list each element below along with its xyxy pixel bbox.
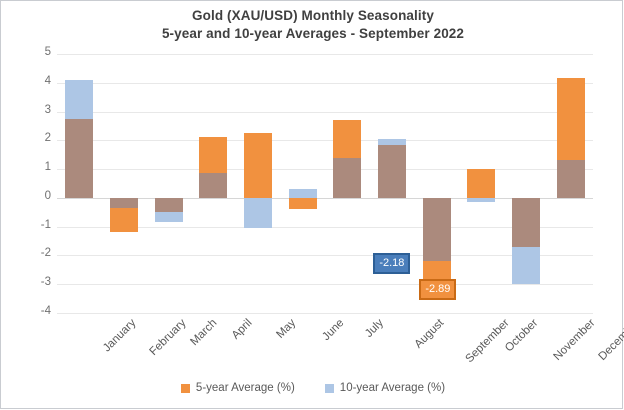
chart-title-line1: Gold (XAU/USD) Monthly Seasonality [1,7,624,25]
bar-group [280,54,325,313]
bar-segment-10-year [467,198,495,202]
bar-segment-overlap [512,198,540,247]
y-axis-tick-label: 3 [11,104,51,116]
y-axis-tick-label: -2 [11,247,51,259]
bar-segment-5-year [110,208,138,232]
y-axis-tick-label: 2 [11,132,51,144]
bar-group [236,54,281,313]
plot-area: -2.18-2.89 [57,54,593,313]
bar-segment-overlap [557,160,585,197]
bar-group [57,54,102,313]
x-axis-label-august: August [412,317,446,351]
bar-group [370,54,415,313]
bar-segment-overlap [65,119,93,198]
chart-title: Gold (XAU/USD) Monthly Seasonality 5-yea… [1,7,624,43]
bar-segment-overlap [199,173,227,197]
bar-group [191,54,236,313]
chart-legend: 5-year Average (%)10-year Average (%) [1,382,624,394]
bar-segment-overlap [155,198,183,212]
y-axis-tick-label: 0 [11,190,51,202]
bar-segment-overlap [378,145,406,198]
bar-segment-5-year [423,261,451,281]
bar-group [325,54,370,313]
y-axis-tick-label: -1 [11,219,51,231]
bar-segment-10-year [289,189,317,198]
bar-segment-5-year [244,133,272,198]
bar-group [146,54,191,313]
y-axis-tick-label: -3 [11,276,51,288]
legend-item[interactable]: 10-year Average (%) [325,382,445,394]
x-axis-label-january: January [101,317,138,354]
bar-segment-10-year [378,139,406,145]
x-axis-category-labels: JanuaryFebruaryMarchAprilMayJuneJulyAugu… [57,313,593,383]
x-axis-label-february: February [147,317,188,358]
bar-group [414,54,459,313]
legend-item[interactable]: 5-year Average (%) [181,382,295,394]
bar-segment-5-year [333,120,361,157]
bar-segment-10-year [155,212,183,222]
y-axis-tick-label: -4 [11,305,51,317]
legend-swatch-ten [325,384,334,393]
data-label: -2.18 [373,253,410,274]
x-axis-label-december: December [596,317,624,363]
bar-segment-10-year [244,198,272,228]
x-axis-label-april: April [230,317,255,342]
data-label: -2.89 [419,279,456,300]
bar-segment-5-year [199,137,227,173]
chart-frame: Gold (XAU/USD) Monthly Seasonality 5-yea… [0,0,623,409]
x-axis-label-november: November [552,317,598,363]
legend-swatch-five [181,384,190,393]
bar-segment-5-year [557,78,585,160]
bar-segment-overlap [110,198,138,208]
chart-title-line2: 5-year and 10-year Averages - September … [1,25,624,43]
y-axis-tick-label: 4 [11,75,51,87]
y-axis: 543210-1-2-3-4 [9,54,51,313]
bar-segment-overlap [333,158,361,198]
bar-group [548,54,593,313]
bar-segment-5-year [467,169,495,198]
x-axis-label-june: June [320,317,346,343]
legend-label: 10-year Average (%) [340,382,445,394]
x-axis-label-may: May [274,317,298,341]
bar-group [459,54,504,313]
x-axis-label-march: March [188,317,219,348]
x-axis-label-september: September [463,317,511,365]
y-axis-tick-label: 5 [11,46,51,58]
bar-segment-10-year [512,247,540,284]
y-axis-tick-label: 1 [11,161,51,173]
legend-label: 5-year Average (%) [196,382,295,394]
bar-segment-5-year [289,198,317,210]
x-axis-label-july: July [363,317,386,340]
bar-segment-overlap [423,198,451,261]
bar-group [102,54,147,313]
bar-segment-10-year [65,80,93,119]
bar-group [504,54,549,313]
